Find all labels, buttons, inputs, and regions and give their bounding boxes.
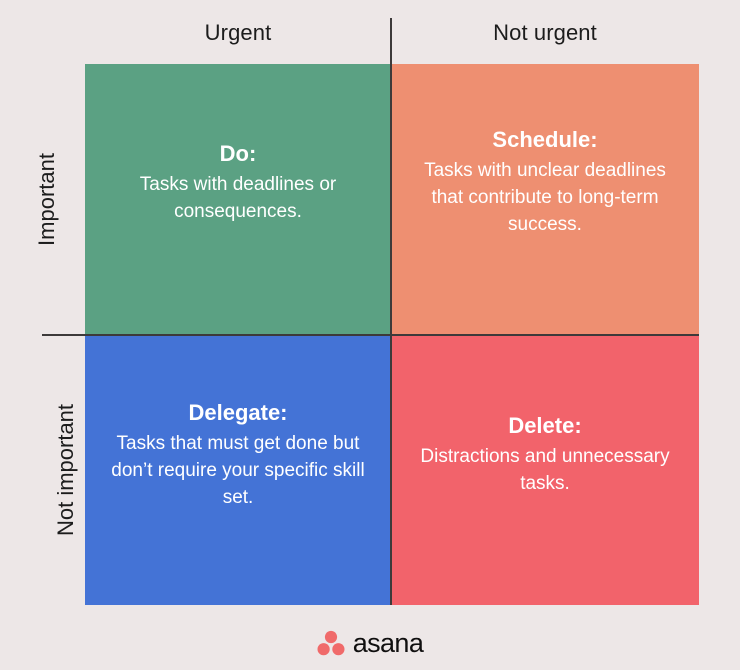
quadrant-do-title: Do: <box>103 139 373 169</box>
quadrant-delegate-text: Delegate: Tasks that must get done but d… <box>103 398 373 511</box>
quadrant-delete-title: Delete: <box>409 411 681 441</box>
asana-wordmark: asana <box>353 630 424 657</box>
quadrant-delete: Delete: Distractions and unnecessary tas… <box>391 335 699 605</box>
quadrant-do: Do: Tasks with deadlines or consequences… <box>85 64 391 335</box>
quadrant-delegate: Delegate: Tasks that must get done but d… <box>85 335 391 605</box>
quadrant-do-text: Do: Tasks with deadlines or consequences… <box>103 139 373 225</box>
row-label-not-important: Not important <box>0 335 85 605</box>
asana-logo: asana <box>0 629 740 656</box>
quadrant-delete-description: Distractions and unnecessary tasks. <box>409 443 681 497</box>
quadrant-schedule-title: Schedule: <box>409 125 681 155</box>
quadrant-do-description: Tasks with deadlines or consequences. <box>103 171 373 225</box>
eisenhower-matrix: Urgent Not urgent Important Not importan… <box>0 0 740 670</box>
quadrant-schedule-description: Tasks with unclear deadlines that contri… <box>409 157 681 238</box>
quadrant-delete-text: Delete: Distractions and unnecessary tas… <box>409 411 681 497</box>
axis-vertical-divider <box>390 18 392 605</box>
quadrant-schedule-text: Schedule: Tasks with unclear deadlines t… <box>409 125 681 238</box>
asana-logo-icon <box>317 630 345 656</box>
quadrant-delegate-title: Delegate: <box>103 398 373 428</box>
column-header-urgent: Urgent <box>85 17 391 49</box>
column-header-not-urgent: Not urgent <box>391 17 699 49</box>
axis-horizontal-divider <box>42 334 699 336</box>
row-label-important: Important <box>0 64 85 335</box>
quadrant-delegate-description: Tasks that must get done but don’t requi… <box>103 430 373 511</box>
quadrant-schedule: Schedule: Tasks with unclear deadlines t… <box>391 64 699 335</box>
